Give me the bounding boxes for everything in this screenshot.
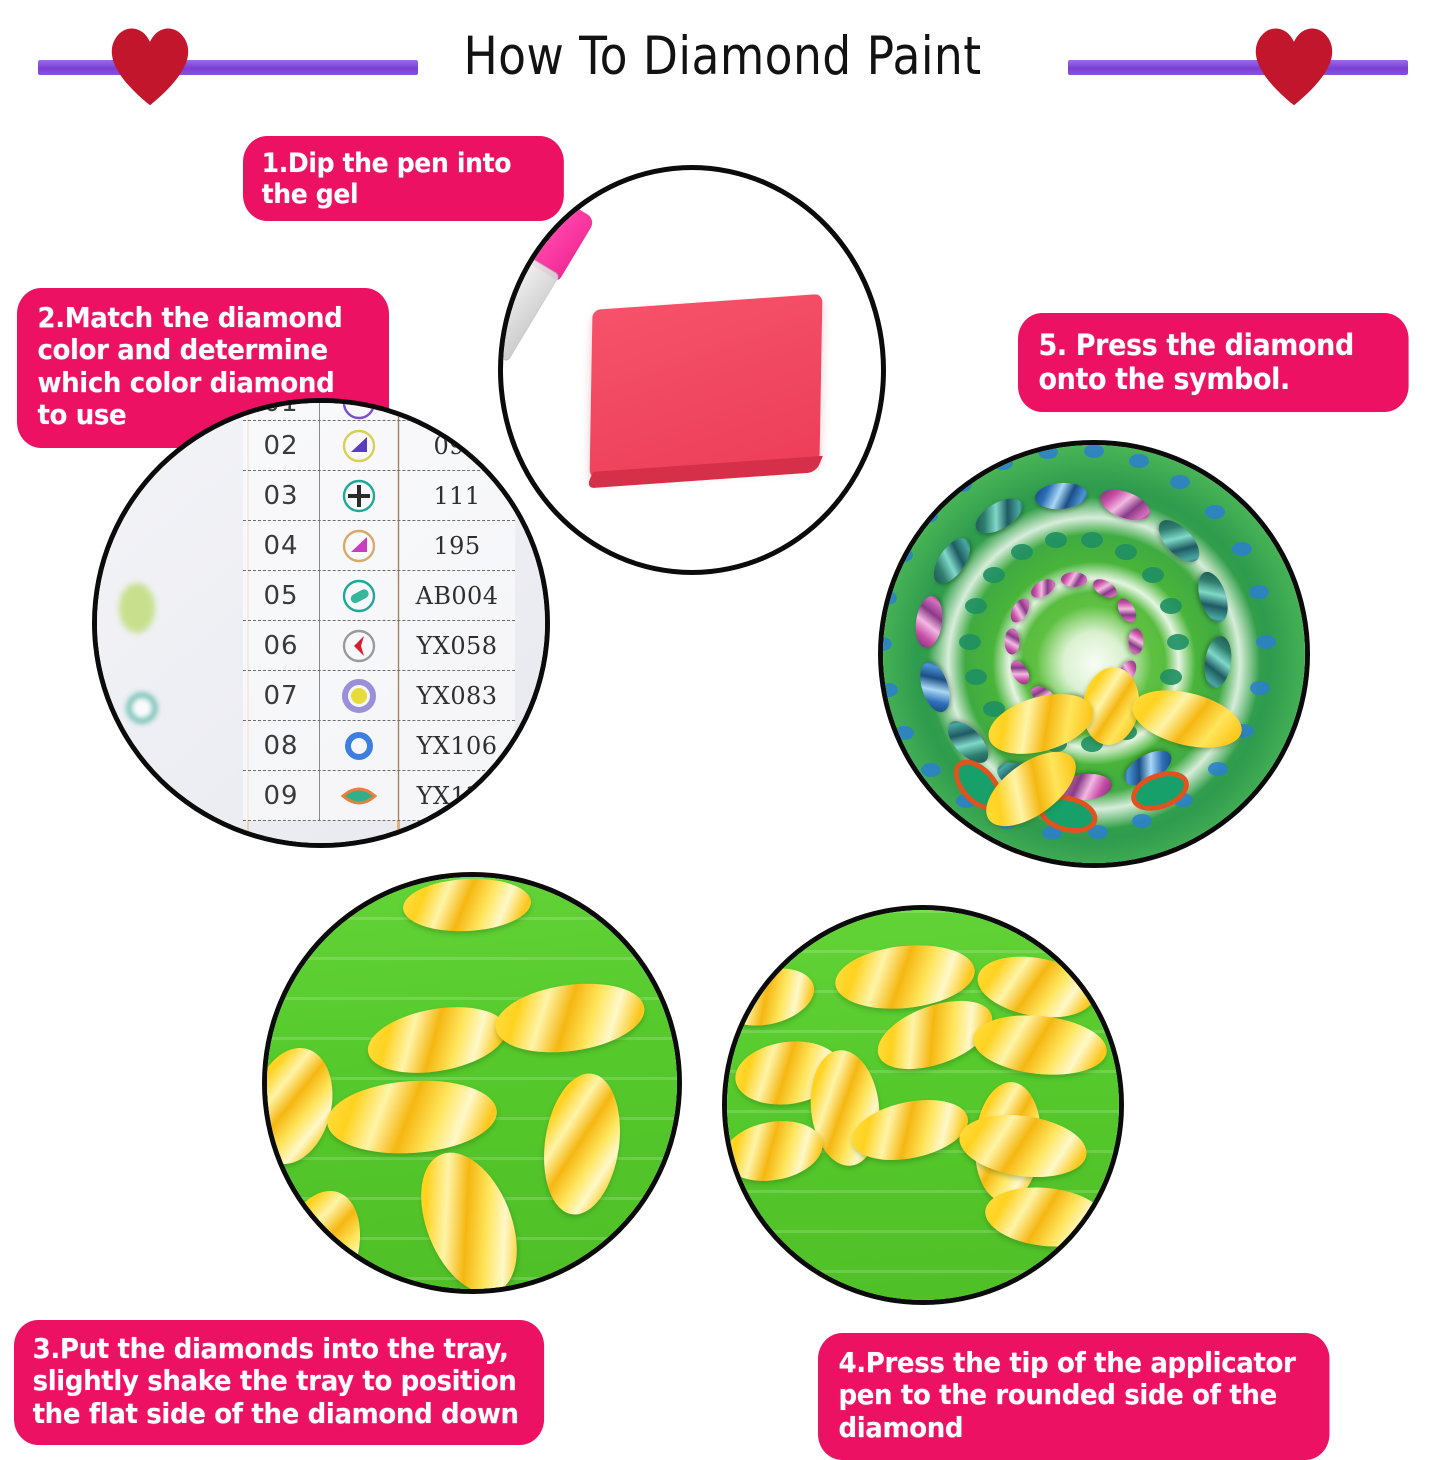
painted-symbol-dot [1170, 475, 1190, 489]
dot-in-ring-symbol [320, 671, 399, 720]
canvas-smudge [119, 583, 155, 633]
triangle-symbol [320, 421, 399, 470]
plus-symbol [320, 471, 399, 520]
painted-symbol-dot [1160, 669, 1182, 685]
painted-symbol-dot [878, 591, 897, 605]
rhinestone [1152, 513, 1207, 569]
painted-symbol-dot [1205, 505, 1225, 519]
rhinestone [1096, 484, 1154, 527]
leaf-symbol [320, 771, 399, 820]
rhinestone [1061, 572, 1087, 587]
legend-code: 111 [399, 482, 515, 510]
legend-number: 02 [243, 421, 320, 470]
rhinestone [1090, 575, 1120, 601]
pink-gel-pad [590, 294, 823, 478]
painted-symbol-dot [1232, 542, 1252, 556]
painted-symbol-dot [1249, 585, 1269, 599]
legend-code: YX058 [399, 632, 515, 660]
rhinestone [1202, 635, 1235, 690]
painted-symbol-dot [959, 634, 981, 650]
infographic-canvas: How To Diamond Paint 1.Dip the pen into … [0, 0, 1445, 1445]
mandala-canvas [878, 440, 1310, 868]
painted-symbol-dot [1011, 544, 1033, 560]
symbol-legend-table: 0102802093031110419505AB00406YX05807YX08… [243, 398, 515, 821]
step-5-photo [878, 440, 1310, 868]
table-row: 06YX058 [243, 621, 515, 671]
painted-symbol-dot [878, 637, 892, 651]
painted-symbol-dot [993, 456, 1013, 470]
page-header: How To Diamond Paint [0, 0, 1445, 120]
step-3-photo [262, 872, 682, 1294]
rhinestone [970, 492, 1028, 541]
painted-symbol-dot [1250, 681, 1270, 695]
legend-code: YX106 [399, 732, 515, 760]
rhinestone [913, 594, 946, 649]
painted-symbol-dot [1256, 635, 1276, 649]
ring-symbol [320, 721, 399, 770]
step-1-photo [498, 165, 886, 575]
step-4-callout: 4.Press the tip of the applicator pen to… [818, 1333, 1330, 1460]
legend-number: 09 [243, 771, 320, 820]
rhinestone [1004, 629, 1019, 655]
table-row: 08YX106 [243, 721, 515, 771]
painted-symbol-dot [965, 598, 987, 614]
legend-number: 06 [243, 621, 320, 670]
table-row: 09YX125 [243, 771, 515, 821]
rhinestone [1128, 629, 1143, 655]
step-5-callout: 5. Press the diamond onto the symbol. [1018, 313, 1409, 412]
rhinestone [1007, 596, 1033, 626]
painted-symbol-dot [1129, 454, 1149, 468]
step-4-photo [722, 905, 1124, 1305]
painted-symbol-dot [1045, 532, 1067, 548]
painted-symbol-dot [1132, 814, 1152, 828]
legend-code: 093 [399, 432, 515, 460]
step-2-photo: 0102802093031110419505AB00406YX05807YX08… [92, 398, 550, 848]
rhinestone [1034, 481, 1088, 511]
legend-number: 07 [243, 671, 320, 720]
painted-symbol-dot [1160, 598, 1182, 614]
painted-symbol-dot [921, 763, 941, 777]
table-row: 03111 [243, 471, 515, 521]
painted-symbol-dot [1142, 567, 1164, 583]
rhinestone [1028, 575, 1058, 601]
triangle-symbol [320, 521, 399, 570]
painted-symbol-dot [893, 548, 913, 562]
table-row: 04195 [243, 521, 515, 571]
legend-code: YX125 [399, 782, 515, 810]
painted-symbol-dot [1167, 634, 1189, 650]
legend-code: 028 [399, 398, 515, 417]
capsule-symbol [320, 571, 399, 620]
left-arrow-symbol [320, 621, 399, 670]
painted-symbol-dot [918, 509, 938, 523]
step-3-callout: 3.Put the diamonds into the tray, slight… [14, 1320, 544, 1445]
rhinestone [914, 658, 955, 715]
table-row: 02093 [243, 421, 515, 471]
table-row: 05AB004 [243, 571, 515, 621]
legend-number: 04 [243, 521, 320, 570]
legend-number: 03 [243, 471, 320, 520]
legend-code: AB004 [399, 582, 515, 610]
rhinestone [1007, 658, 1033, 688]
legend-code: YX083 [399, 682, 515, 710]
painted-symbol-dot [1208, 762, 1228, 776]
legend-number: 05 [243, 571, 320, 620]
legend-code: 195 [399, 532, 515, 560]
painted-symbol-dot [965, 669, 987, 685]
painted-symbol-dot [1084, 444, 1104, 458]
canvas-symbol-mark [127, 693, 157, 723]
rhinestone [1192, 568, 1233, 625]
painted-symbol-dot [952, 478, 972, 492]
painted-symbol-dot [1115, 544, 1137, 560]
rhinestone [927, 532, 977, 590]
table-row: 07YX083 [243, 671, 515, 721]
painted-symbol-dot [1038, 445, 1058, 459]
painted-symbol-dot [878, 683, 898, 697]
painted-symbol-dot [894, 726, 914, 740]
painted-symbol-dot [1081, 532, 1103, 548]
legend-number: 08 [243, 721, 320, 770]
page-title: How To Diamond Paint [101, 26, 1344, 87]
painted-symbol-dot [983, 567, 1005, 583]
rhinestone [1114, 596, 1140, 626]
